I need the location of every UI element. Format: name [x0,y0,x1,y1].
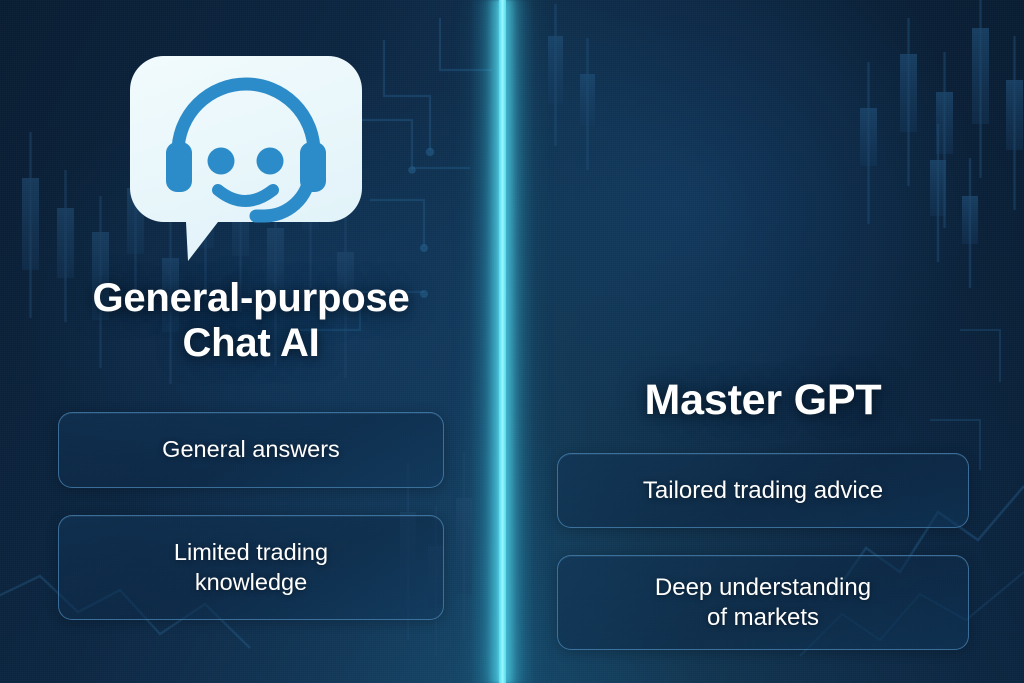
right-feature-list: Tailored trading advice Deep understandi… [502,453,1024,650]
right-feature-box-1[interactable]: Tailored trading advice [557,453,969,528]
chat-bubble-headset-icon [130,56,362,261]
left-heading-line-2: Chat AI [182,321,319,365]
eye-left [208,148,235,175]
right-feature-box-2[interactable]: Deep understanding of markets [557,555,969,650]
ear-cup-right [300,142,326,192]
left-column: General-purpose Chat AI General answers … [0,0,502,683]
right-feature-label-2-line-1: Deep understanding [655,574,871,601]
infographic-canvas: General-purpose Chat AI General answers … [0,0,1024,683]
left-feature-list: General answers Limited trading knowledg… [0,412,502,620]
left-feature-label-2-line-2: knowledge [195,569,307,595]
right-column: Master GPT Tailored trading advice Deep … [502,0,1024,683]
eye-right [257,148,284,175]
left-feature-label-2-line-1: Limited trading [174,539,328,565]
ear-cup-left [166,142,192,192]
left-feature-box-2[interactable]: Limited trading knowledge [58,515,444,620]
right-heading: Master GPT [502,376,1024,424]
left-feature-label-2: Limited trading knowledge [174,538,328,597]
left-feature-label-1: General answers [162,435,340,464]
right-feature-label-1: Tailored trading advice [643,476,883,506]
left-heading-line-1: General-purpose [92,276,409,320]
left-heading: General-purpose Chat AI [0,276,502,366]
right-feature-label-2: Deep understanding of markets [655,573,871,633]
left-feature-box-1[interactable]: General answers [58,412,444,488]
right-feature-label-2-line-2: of markets [707,604,819,631]
